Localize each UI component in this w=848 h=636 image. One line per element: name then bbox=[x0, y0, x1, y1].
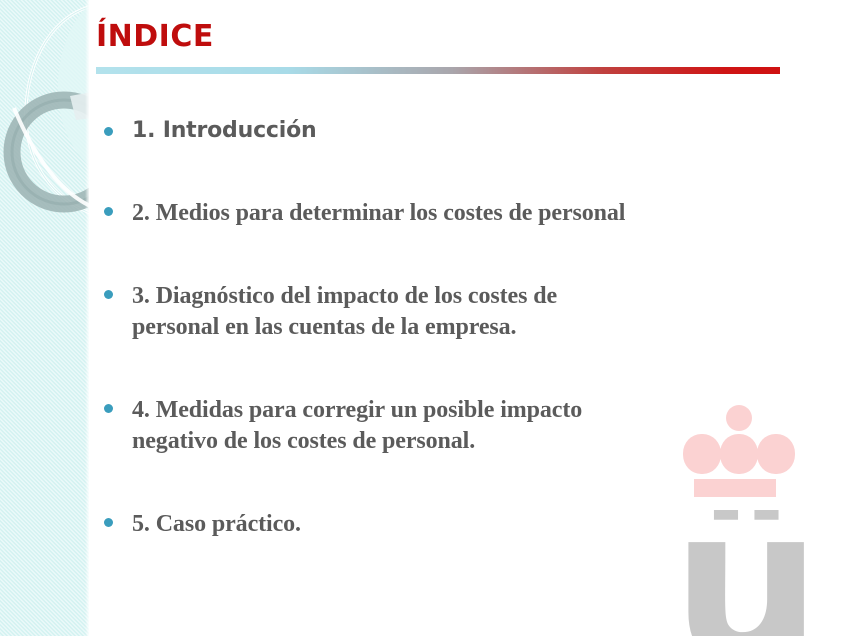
list-item-label: 3. Diagnóstico del impacto de los costes… bbox=[132, 281, 796, 312]
title-underline-rule bbox=[96, 67, 780, 74]
bullet-dot-icon bbox=[104, 207, 113, 216]
sidebar-edge-highlight bbox=[85, 0, 89, 636]
list-item-label: 1. Introducción bbox=[132, 104, 796, 146]
urjc-logo: ü bbox=[672, 400, 848, 636]
crown-base-bar-icon bbox=[694, 479, 776, 497]
crown-circle-left-icon bbox=[683, 434, 721, 474]
list-item[interactable]: 2. Medios para determinar los costes de … bbox=[96, 198, 796, 229]
bullet-dot-icon bbox=[104, 404, 113, 413]
list-item[interactable]: 3. Diagnóstico del impacto de los costes… bbox=[96, 281, 796, 343]
crown-top-circle-icon bbox=[726, 405, 752, 431]
page-title: ÍNDICE bbox=[96, 22, 214, 52]
logo-letter-u: ü bbox=[672, 510, 804, 636]
bullet-dot-icon bbox=[104, 290, 113, 299]
sidebar-decoration bbox=[0, 0, 89, 636]
bullet-dot-icon bbox=[104, 127, 113, 136]
sidebar-rings-graphic bbox=[0, 0, 89, 636]
crown-circle-right-icon bbox=[757, 434, 795, 474]
slide-canvas: ÍNDICE 1. Introducción 2. Medios para de… bbox=[0, 0, 848, 636]
bullet-dot-icon bbox=[104, 518, 113, 527]
list-item[interactable]: 1. Introducción bbox=[96, 104, 796, 146]
list-item-label-line2: personal en las cuentas de la empresa. bbox=[132, 312, 796, 343]
crown-circle-center-icon bbox=[720, 434, 758, 474]
list-item-label: 2. Medios para determinar los costes de … bbox=[132, 198, 796, 229]
